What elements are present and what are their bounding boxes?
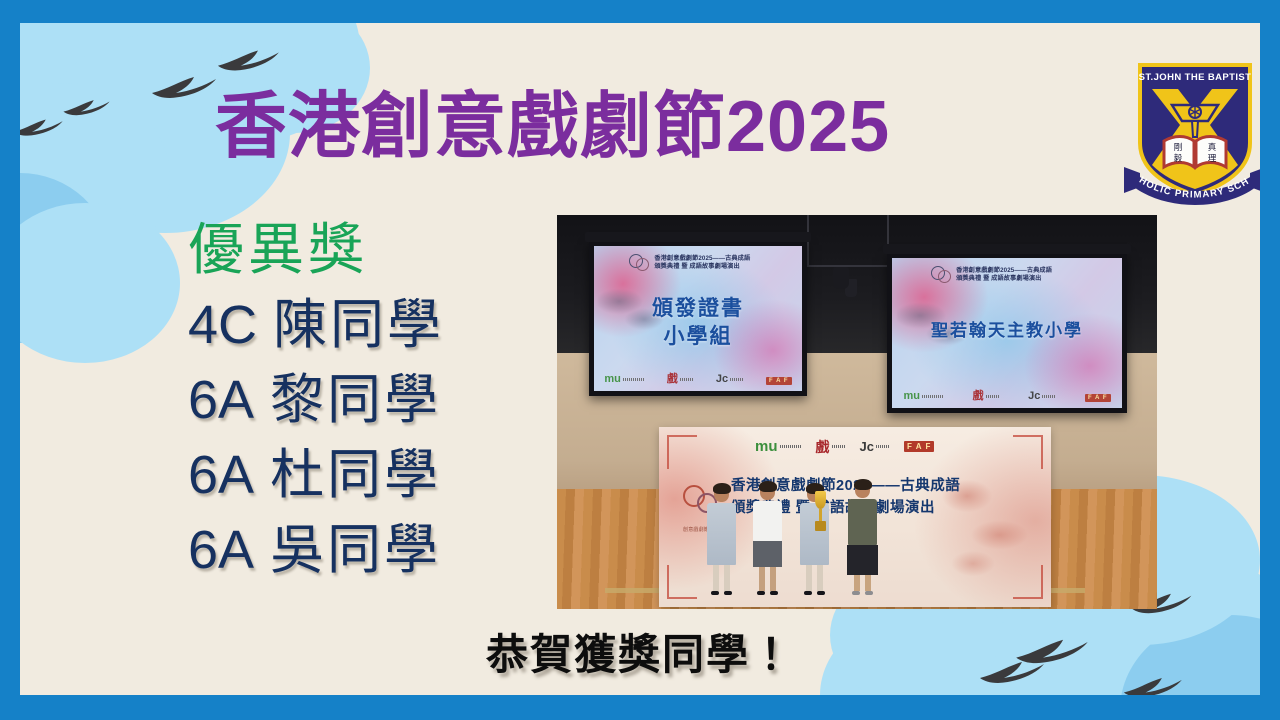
spotlight-icon <box>833 267 849 289</box>
backdrop-corner-ornament <box>667 565 697 599</box>
slide-canvas: 香港創意戲劇節2025 優異獎 4C 陳同學 6A 黎同學 6A 杜同學 6A <box>20 23 1260 695</box>
sponsor-logo-text-icon <box>986 395 1000 398</box>
bird-icon <box>216 48 298 74</box>
sponsor-logo-mark: F A F <box>904 441 934 452</box>
sponsor-logo-mu: mu <box>604 374 645 385</box>
screen-body-line1: 頒發證書 <box>594 295 802 322</box>
sponsor-logo-text-icon <box>680 378 694 381</box>
page-title: 香港創意戲劇節2025 <box>215 91 890 163</box>
sponsor-logo-drama: 戲 <box>667 374 694 385</box>
sponsor-logo-mark: 戲 <box>973 391 984 402</box>
shoes <box>707 591 736 595</box>
sponsor-logo-text-icon <box>780 445 802 448</box>
sponsor-logo-mark: 戲 <box>667 374 678 385</box>
student-figure <box>753 483 782 595</box>
sponsor-logo-drama: 戲 <box>816 440 846 454</box>
sponsor-logo-text-icon <box>730 378 744 381</box>
sponsor-logo-mark: 戲 <box>816 440 830 454</box>
school-crest: ST.JOHN THE BAPTIST 剛 毅 真 理 CATH <box>1122 55 1260 205</box>
sponsor-logo-faf: F A F <box>766 377 792 385</box>
head <box>714 485 729 502</box>
sponsor-logo-mark: Jc <box>1028 391 1040 402</box>
creative-drama-logo-icon <box>629 253 649 273</box>
projection-screen-left: 香港創意戲劇節2025——古典成語 頒獎典禮 暨 成語故事劇場演出 頒發證書 小… <box>589 241 807 396</box>
sponsor-logo-drama: 戲 <box>973 391 1000 402</box>
winner-person: 陳同學 <box>273 288 444 363</box>
screen-header: 香港創意戲劇節2025——古典成語 頒獎典禮 暨 成語故事劇場演出 <box>594 246 802 273</box>
sponsor-logo-mark: F A F <box>766 377 792 385</box>
congratulation-caption: 恭賀獲獎同學！ <box>20 621 1260 682</box>
sponsor-logo-text-icon <box>623 378 645 381</box>
winner-class: 6A <box>188 513 254 588</box>
projection-screen-right: 香港創意戲劇節2025——古典成語 頒獎典禮 暨 成語故事劇場演出 聖若翰天主教… <box>887 253 1127 413</box>
winner-class: 4C <box>188 288 257 363</box>
ceiling-truss <box>807 215 889 267</box>
shoes <box>847 591 878 595</box>
sponsor-logo-mu: mu <box>904 391 945 402</box>
creative-drama-logo-icon <box>931 265 951 285</box>
sponsor-logo-jc: Jc <box>860 440 890 453</box>
backdrop-sponsor-row: mu 戲 Jc F A F <box>755 439 934 454</box>
sponsor-logo-faf: F A F <box>904 441 934 452</box>
winner-list: 4C 陳同學 6A 黎同學 6A 杜同學 6A 吳同學 <box>188 288 528 588</box>
award-name: 優異獎 <box>188 219 528 282</box>
shoes <box>753 591 782 595</box>
legs <box>707 565 736 591</box>
trophy-icon <box>815 491 826 537</box>
sponsor-logo-row: mu 戲 Jc F A F <box>604 374 791 385</box>
sponsor-logo-mark: Jc <box>860 440 874 453</box>
screen-casing <box>585 232 811 242</box>
bird-icon <box>62 98 124 118</box>
screen-header-line1: 香港創意戲劇節2025——古典成語 <box>654 255 750 263</box>
shoes <box>800 591 829 595</box>
sponsor-logo-mark: Jc <box>716 374 728 385</box>
jacket <box>848 499 877 545</box>
crest-book-right-bottom: 理 <box>1208 154 1217 164</box>
sponsor-logo-jc: Jc <box>716 374 744 385</box>
sponsor-logo-mark: F A F <box>1085 394 1111 402</box>
school-crest-svg: ST.JOHN THE BAPTIST 剛 毅 真 理 CATH <box>1122 55 1260 205</box>
skirt <box>847 545 878 575</box>
uniform <box>753 501 782 541</box>
uniform <box>707 503 736 565</box>
teacher-figure <box>847 481 878 595</box>
screen-content: 香港創意戲劇節2025——古典成語 頒獎典禮 暨 成語故事劇場演出 頒發證書 小… <box>594 246 802 391</box>
screen-body: 聖若翰天主教小學 <box>892 320 1122 342</box>
screen-content: 香港創意戲劇節2025——古典成語 頒獎典禮 暨 成語故事劇場演出 聖若翰天主教… <box>892 258 1122 408</box>
legs <box>753 567 782 591</box>
screen-header-line2: 頒獎典禮 暨 成語故事劇場演出 <box>956 275 1052 283</box>
sponsor-logo-text-icon <box>922 395 944 398</box>
list-item: 6A 黎同學 <box>188 363 528 438</box>
sponsor-logo-mu: mu <box>755 439 802 454</box>
head <box>855 481 870 498</box>
screen-header-line2: 頒獎典禮 暨 成語故事劇場演出 <box>654 263 750 271</box>
screen-body: 頒發證書 小學組 <box>594 295 802 350</box>
sponsor-logo-faf: F A F <box>1085 394 1111 402</box>
sponsor-logo-text-icon <box>876 445 890 448</box>
winner-person: 吳同學 <box>270 513 441 588</box>
winner-person: 杜同學 <box>270 438 441 513</box>
legs <box>800 565 829 591</box>
winner-class: 6A <box>188 363 254 438</box>
medallion-caption: 創意戲劇節 <box>683 526 709 533</box>
screen-casing <box>883 244 1131 254</box>
sponsor-logo-mark: mu <box>904 391 921 402</box>
list-item: 6A 杜同學 <box>188 438 528 513</box>
sponsor-logo-mark: mu <box>604 374 621 385</box>
crest-book-left-bottom: 毅 <box>1174 153 1183 164</box>
screen-body-line1: 聖若翰天主教小學 <box>892 320 1122 342</box>
sponsor-logo-text-icon <box>832 445 846 448</box>
list-item: 6A 吳同學 <box>188 513 528 588</box>
screen-header: 香港創意戲劇節2025——古典成語 頒獎典禮 暨 成語故事劇場演出 <box>892 258 1122 285</box>
crest-book-right-top: 真 <box>1208 142 1217 153</box>
legs <box>847 575 878 591</box>
sponsor-logo-mark: mu <box>755 439 778 454</box>
list-item: 4C 陳同學 <box>188 288 528 363</box>
winner-class: 6A <box>188 438 254 513</box>
winner-person: 黎同學 <box>270 363 441 438</box>
slide-root: 香港創意戲劇節2025 優異獎 4C 陳同學 6A 黎同學 6A 杜同學 6A <box>0 0 1280 720</box>
shorts <box>753 541 782 567</box>
crest-top-text: ST.JOHN THE BAPTIST <box>1139 72 1252 83</box>
screen-body-line2: 小學組 <box>594 323 802 350</box>
sponsor-logo-row: mu 戲 Jc F A F <box>904 391 1111 402</box>
backdrop-corner-ornament <box>667 435 697 469</box>
bird-icon <box>20 118 78 138</box>
award-block: 優異獎 4C 陳同學 6A 黎同學 6A 杜同學 6A 吳同學 <box>188 219 528 588</box>
student-figure <box>707 485 736 595</box>
crest-book-left-top: 剛 <box>1174 143 1183 153</box>
head <box>760 483 775 500</box>
screen-header-line1: 香港創意戲劇節2025——古典成語 <box>956 267 1052 275</box>
sponsor-logo-jc: Jc <box>1028 391 1056 402</box>
ceremony-photo: 香港創意戲劇節2025——古典成語 頒獎典禮 暨 成語故事劇場演出 頒發證書 小… <box>557 215 1157 609</box>
sponsor-logo-text-icon <box>1042 395 1056 398</box>
